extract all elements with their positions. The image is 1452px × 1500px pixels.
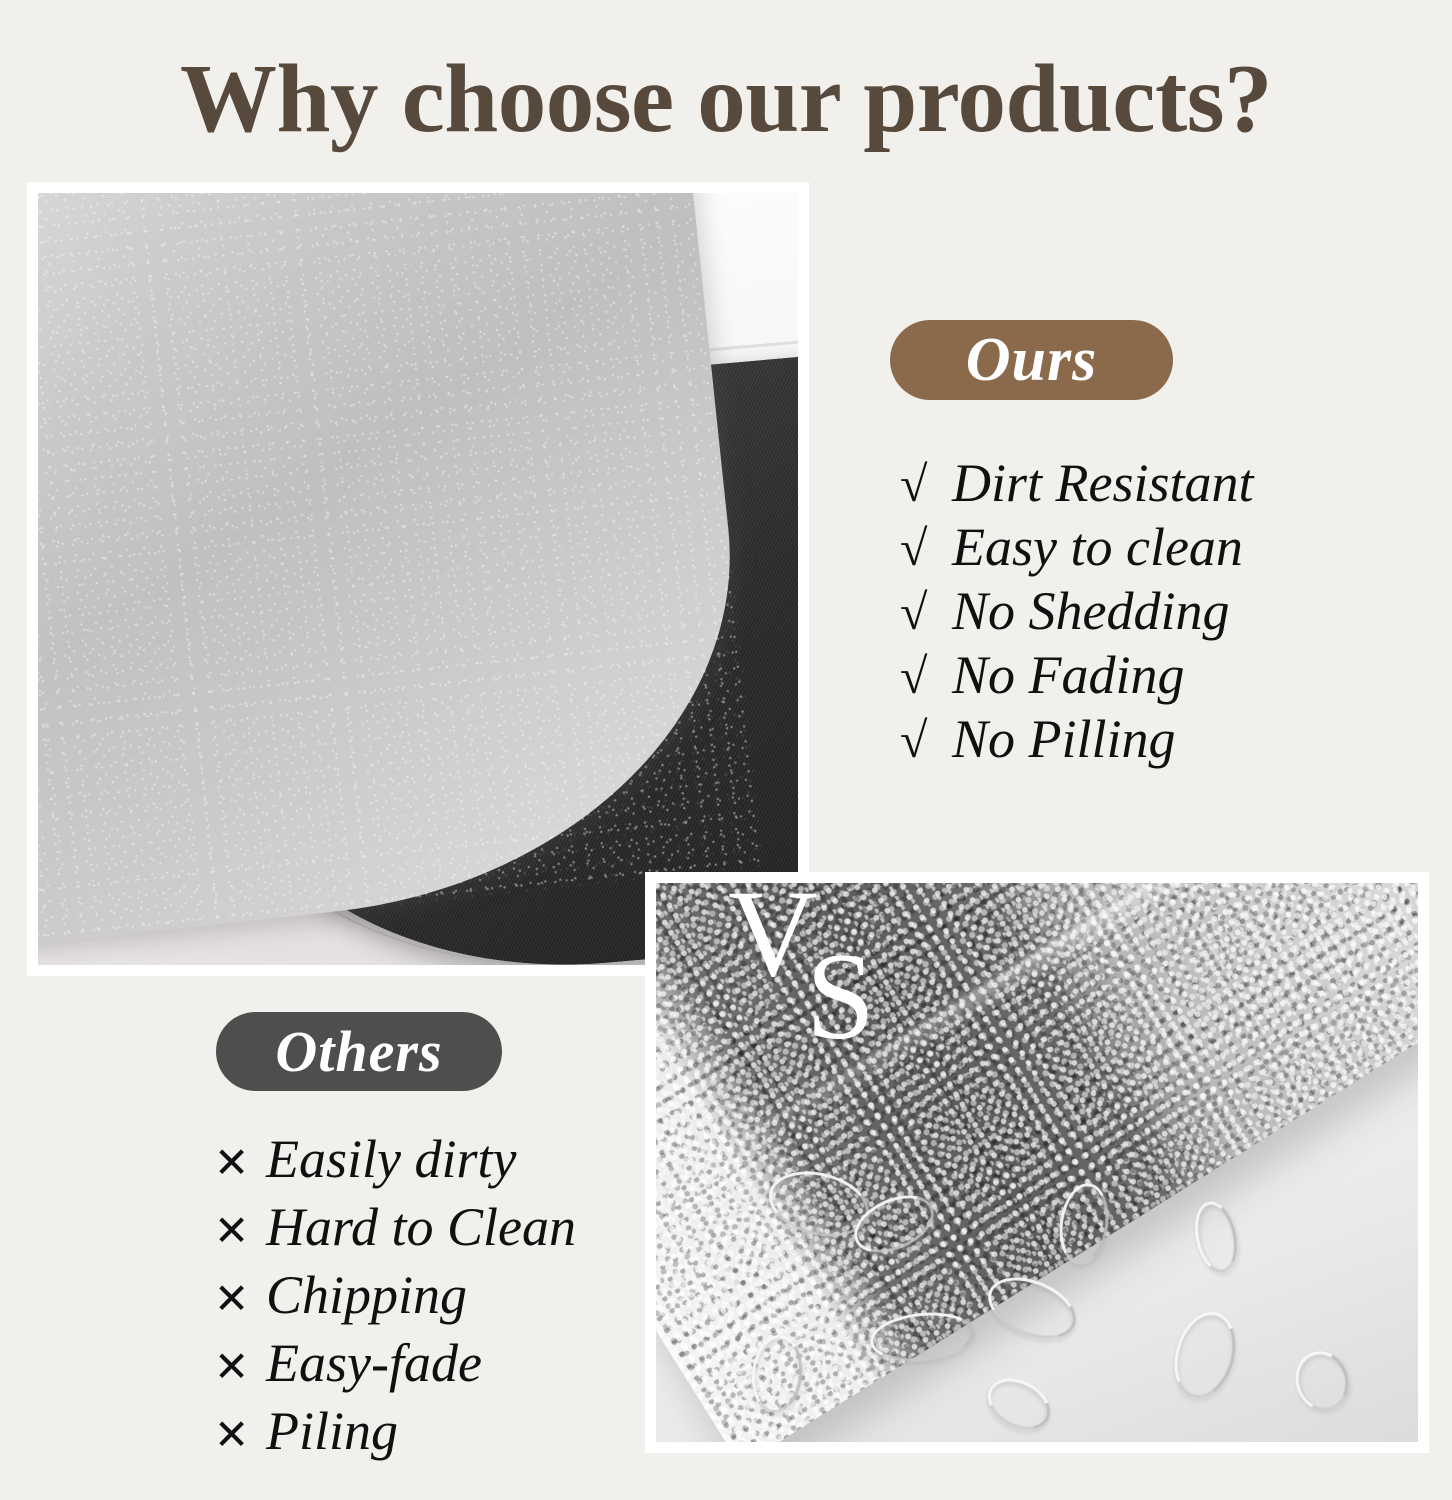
mat-scene-background bbox=[38, 193, 798, 965]
others-feature-label: Hard to Clean bbox=[266, 1196, 576, 1259]
check-icon: √ bbox=[900, 581, 952, 644]
list-item: √ Dirt Resistant bbox=[900, 452, 1254, 516]
others-feature-label: Piling bbox=[266, 1400, 398, 1463]
mat-suede-texture bbox=[38, 193, 764, 965]
mat-suede-surface bbox=[38, 193, 764, 965]
ours-feature-label: Easy to clean bbox=[952, 516, 1243, 579]
list-item: ✕ Easy-fade bbox=[214, 1332, 576, 1400]
shed-fibre bbox=[1189, 1198, 1243, 1277]
others-feature-label: Easily dirty bbox=[266, 1128, 516, 1191]
others-badge: Others bbox=[216, 1012, 502, 1091]
ours-feature-list: √ Dirt Resistant √ Easy to clean √ No Sh… bbox=[900, 452, 1254, 772]
cross-icon: ✕ bbox=[214, 1201, 266, 1264]
list-item: √ Easy to clean bbox=[900, 516, 1254, 580]
shed-fibre bbox=[1165, 1305, 1245, 1406]
ours-badge: Ours bbox=[890, 320, 1173, 400]
page-title: Why choose our products? bbox=[0, 44, 1452, 154]
others-feature-list: ✕ Easily dirty ✕ Hard to Clean ✕ Chippin… bbox=[214, 1128, 576, 1468]
ours-feature-label: No Shedding bbox=[952, 580, 1230, 643]
list-item: ✕ Piling bbox=[214, 1400, 576, 1468]
cross-icon: ✕ bbox=[214, 1269, 266, 1332]
infographic-root: Why choose our products? bbox=[0, 0, 1452, 1500]
ours-feature-label: Dirt Resistant bbox=[952, 452, 1254, 515]
list-item: ✕ Chipping bbox=[214, 1264, 576, 1332]
cross-icon: ✕ bbox=[214, 1133, 266, 1196]
shed-fibre bbox=[979, 1368, 1059, 1440]
check-icon: √ bbox=[900, 517, 952, 580]
cross-icon: ✕ bbox=[214, 1337, 266, 1400]
others-feature-label: Easy-fade bbox=[266, 1332, 482, 1395]
ours-feature-label: No Pilling bbox=[952, 708, 1176, 771]
list-item: ✕ Hard to Clean bbox=[214, 1196, 576, 1264]
list-item: ✕ Easily dirty bbox=[214, 1128, 576, 1196]
list-item: √ No Shedding bbox=[900, 580, 1254, 644]
others-photo-frame bbox=[645, 872, 1429, 1453]
others-photo bbox=[656, 883, 1418, 1442]
ours-feature-label: No Fading bbox=[952, 644, 1185, 707]
check-icon: √ bbox=[900, 645, 952, 708]
ours-photo bbox=[38, 193, 798, 965]
check-icon: √ bbox=[900, 709, 952, 772]
rug-scene-background bbox=[656, 883, 1418, 1442]
list-item: √ No Pilling bbox=[900, 708, 1254, 772]
check-icon: √ bbox=[900, 453, 952, 516]
shed-fibre bbox=[1288, 1344, 1356, 1417]
ours-photo-frame bbox=[27, 182, 809, 976]
others-feature-label: Chipping bbox=[266, 1264, 467, 1327]
cross-icon: ✕ bbox=[214, 1405, 266, 1468]
list-item: √ No Fading bbox=[900, 644, 1254, 708]
